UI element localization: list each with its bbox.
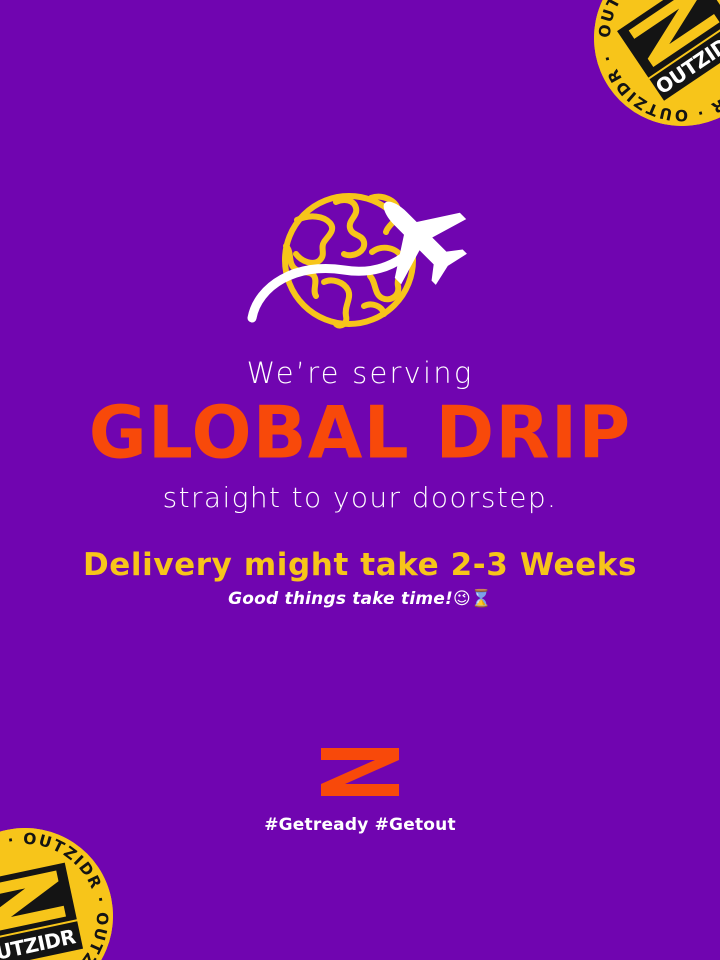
outzidr-seal-bottom-left: OUTZIDR · OUTZIDR · OUTZIDR · OUTZIDR · … — [0, 828, 113, 960]
global-shipping-illustration — [240, 178, 480, 343]
headline-block: We’re serving GLOBAL DRIP straight to yo… — [0, 358, 720, 514]
seal-bottom-left-graphic: OUTZIDR · OUTZIDR · OUTZIDR · OUTZIDR · … — [0, 828, 113, 960]
eyebrow-text: We’re serving — [0, 358, 720, 390]
z-logo-mark — [319, 748, 401, 796]
delivery-notice: Delivery might take 2-3 Weeks — [0, 548, 720, 582]
z-logo-icon — [319, 748, 401, 796]
subline-text: straight to your doorstep. — [0, 483, 720, 514]
outzidr-seal-top-right: OUTZIDR · OUTZIDR · OUTZIDR · OUTZIDR · … — [594, 0, 720, 126]
tagline-row: Good things take time!😉⌛ — [0, 588, 720, 610]
illustration-graphic — [240, 178, 480, 343]
seal-top-right-graphic: OUTZIDR · OUTZIDR · OUTZIDR · OUTZIDR · … — [594, 0, 720, 126]
tagline-text: Good things take time! — [228, 589, 453, 609]
page-title: GLOBAL DRIP — [0, 396, 720, 469]
footer-lockup: #Getready #Getout — [0, 748, 720, 835]
poster-canvas: OUTZIDR · OUTZIDR · OUTZIDR · OUTZIDR · … — [0, 0, 720, 960]
tagline-emoji: 😉⌛ — [453, 589, 492, 609]
